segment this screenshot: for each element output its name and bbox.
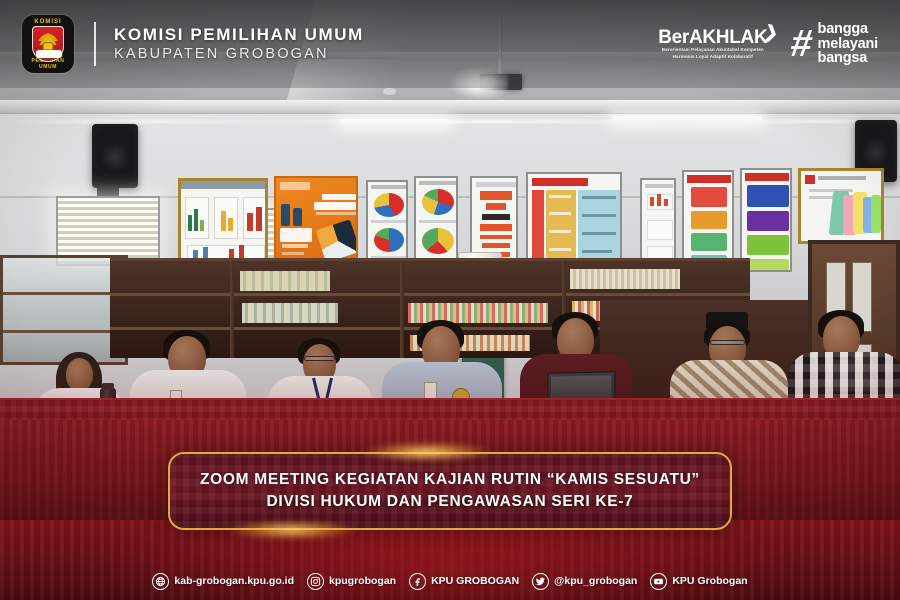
berakhlak-tagline-line2: Harmonis Loyal Adaptif Kolaboratif <box>658 54 767 61</box>
poster-statistik-board <box>178 178 268 268</box>
social-label-facebook: KPU GROBOGAN <box>431 575 519 587</box>
berakhlak-wordmark: BerAKHLAK <box>658 28 767 47</box>
fluorescent-tube-center <box>340 119 450 126</box>
poster-pemilih-disabilitas <box>274 176 358 270</box>
fluorescent-light-strip <box>0 120 900 123</box>
kpu-logo-text-top: KOMISI <box>22 19 74 25</box>
glass-display-cabinet <box>0 255 128 365</box>
bangga-melayani-bangsa-logo: # bangga melayani bangsa <box>791 22 878 66</box>
berakhlak-tagline-line1: Berorientasi Pelayanan Akuntabel Kompete… <box>658 47 767 54</box>
ceiling-fixture-right <box>383 88 396 95</box>
header-text-block: KOMISI PEMILIHAN UMUM KABUPATEN GROBOGAN <box>114 24 658 64</box>
poster-tahapan-pemilu <box>526 172 622 272</box>
bangga-line-3: bangsa <box>818 51 878 66</box>
social-item-instagram[interactable]: kpugrobogan <box>307 573 396 590</box>
berakhlak-chevron-icon: ❯ <box>762 21 780 44</box>
social-item-facebook[interactable]: KPU GROBOGAN <box>409 573 519 590</box>
books-row-2 <box>242 303 338 323</box>
globe-icon <box>152 573 169 590</box>
wall-cornice-rail <box>0 100 900 114</box>
poster-bar-kecil <box>640 178 676 270</box>
books-row-1 <box>240 271 330 291</box>
title-banner-wrapper: ZOOM MEETING KEGIATAN KAJIAN RUTIN “KAMI… <box>168 452 732 530</box>
poster-peta-grobogan <box>798 168 884 244</box>
header-bar: KOMISI PEMILIHAN UMUM KOMISI PEMILIHAN U… <box>0 0 900 88</box>
header-logos-right: BerAKHLAK ❯ Berorientasi Pelayanan Akunt… <box>658 22 878 66</box>
social-item-youtube[interactable]: KPU Grobogan <box>650 573 747 590</box>
garuda-scroll <box>36 50 62 58</box>
banner-title-line1: ZOOM MEETING KEGIATAN KAJIAN RUTIN “KAMI… <box>200 469 700 491</box>
kpu-logo-icon: KOMISI PEMILIHAN UMUM <box>22 15 74 73</box>
social-media-bar: kab-grobogan.kpu.go.id kpugrobogan KPU G… <box>0 566 900 596</box>
wall-speaker-left <box>92 124 138 188</box>
books-row-3 <box>408 303 548 323</box>
bangga-line-1: bangga <box>818 22 878 37</box>
social-item-twitter[interactable]: @kpu_grobogan <box>532 573 637 590</box>
bangga-text-lines: bangga melayani bangsa <box>818 22 878 66</box>
organization-title: KOMISI PEMILIHAN UMUM <box>114 24 658 45</box>
organization-subtitle: KABUPATEN GROBOGAN <box>114 45 658 64</box>
bangga-line-2: melayani <box>818 37 878 52</box>
facebook-icon <box>409 573 426 590</box>
books-row-4 <box>570 269 680 289</box>
instagram-icon <box>307 573 324 590</box>
hashtag-icon: # <box>789 29 812 59</box>
poster-image: KOMISI PEMILIHAN UMUM KOMISI PEMILIHAN U… <box>0 0 900 600</box>
poster-pie-chart-1 <box>366 180 408 268</box>
social-label-instagram: kpugrobogan <box>329 575 396 587</box>
poster-alur-warna-2 <box>740 168 792 272</box>
banner-title-line2: DIVISI HUKUM DAN PENGAWASAN SERI KE-7 <box>267 491 634 513</box>
poster-pie-chart-2 <box>414 176 458 268</box>
social-label-youtube: KPU Grobogan <box>672 575 747 587</box>
title-banner: ZOOM MEETING KEGIATAN KAJIAN RUTIN “KAMI… <box>168 452 732 530</box>
poster-alur-warna-1 <box>682 170 734 272</box>
social-label-website: kab-grobogan.kpu.go.id <box>174 575 294 587</box>
header-divider <box>94 22 96 66</box>
berakhlak-logo: BerAKHLAK ❯ Berorientasi Pelayanan Akunt… <box>658 28 777 61</box>
twitter-icon <box>532 573 549 590</box>
kpu-shield <box>32 26 64 62</box>
fluorescent-tube-right <box>612 116 762 123</box>
social-label-twitter: @kpu_grobogan <box>554 575 637 587</box>
youtube-icon <box>650 573 667 590</box>
social-item-website[interactable]: kab-grobogan.kpu.go.id <box>152 573 294 590</box>
